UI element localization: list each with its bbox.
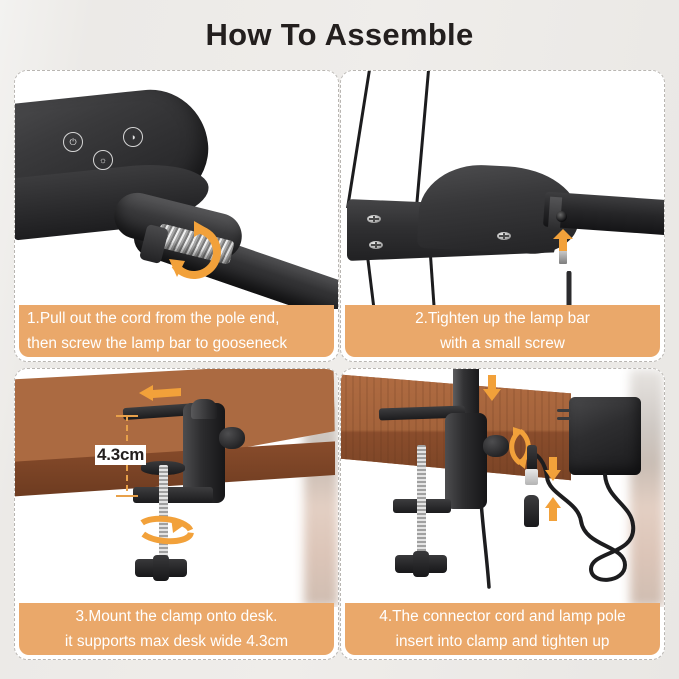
down-arrow-icon [545,457,561,481]
dimension-label: 4.3cm [95,445,146,465]
step-3-caption-line-1: 3.Mount the clamp onto desk. [76,604,278,629]
support-wire [346,71,371,208]
color-temperature-touch-icon: ◑ [123,127,143,147]
page-title: How To Assemble [205,17,473,53]
step-2-caption-line-1: 2.Tighten up the lamp bar [415,306,590,331]
circular-rotate-arrow-icon [133,513,197,547]
up-arrow-icon [545,497,561,521]
step-2-caption-line-2: with a small screw [440,331,565,356]
circular-rotate-arrow-icon [163,221,225,283]
dc-plug-tip [525,469,538,485]
clamp-lower-arm [133,487,213,503]
step-1-illustration: ⏻ ☼ ◑ [15,71,338,309]
step-4-caption-line-1: 4.The connector cord and lamp pole [379,604,625,629]
step-panel-1[interactable]: ⏻ ☼ ◑ 1.Pull out the cord from the pole … [14,70,339,362]
step-3-illustration: 4.3cm [15,369,338,607]
step-3-caption: 3.Mount the clamp onto desk. it supports… [19,603,334,655]
clamp-pole-socket [191,399,217,419]
step-1-caption-line-1: 1.Pull out the cord from the pole end, [27,306,279,331]
step-4-caption-line-2: insert into clamp and tighten up [396,629,610,654]
allen-key-icon [459,271,575,309]
step-panel-3[interactable]: 4.3cm 3.Mount the clamp onto desk. it su… [14,368,339,660]
power-cord [341,369,664,607]
step-4-caption: 4.The connector cord and lamp pole inser… [345,603,660,655]
dc-plug-male [527,445,537,471]
set-screw-hole [556,211,567,222]
step-4-illustration [341,369,664,607]
brightness-touch-icon: ☼ [93,150,113,170]
up-arrow-icon [553,229,573,251]
clamp-knob [219,427,245,449]
phillips-screw-icon [367,215,381,223]
step-2-caption: 2.Tighten up the lamp bar with a small s… [345,305,660,357]
step-2-illustration [341,71,664,309]
step-panel-2[interactable]: 2.Tighten up the lamp bar with a small s… [340,70,665,362]
header: How To Assemble [0,0,679,70]
small-screw [559,250,567,264]
step-1-caption-line-2: then screw the lamp bar to gooseneck [27,331,287,356]
clamp-t-stem [153,555,169,581]
phillips-screw-icon [369,241,383,249]
dimension-cap-bottom [116,495,138,497]
steps-grid: ⏻ ☼ ◑ 1.Pull out the cord from the pole … [14,70,665,667]
step-3-caption-line-2: it supports max desk wide 4.3cm [65,629,288,654]
step-1-caption: 1.Pull out the cord from the pole end, t… [19,305,334,357]
power-touch-icon: ⏻ [63,132,83,152]
dc-socket-female [524,495,539,527]
phillips-screw-icon [497,232,511,240]
dimension-cap-top [116,415,138,417]
support-wire [429,249,441,309]
left-arrow-icon [139,385,181,401]
step-panel-4[interactable]: 4.The connector cord and lamp pole inser… [340,368,665,660]
